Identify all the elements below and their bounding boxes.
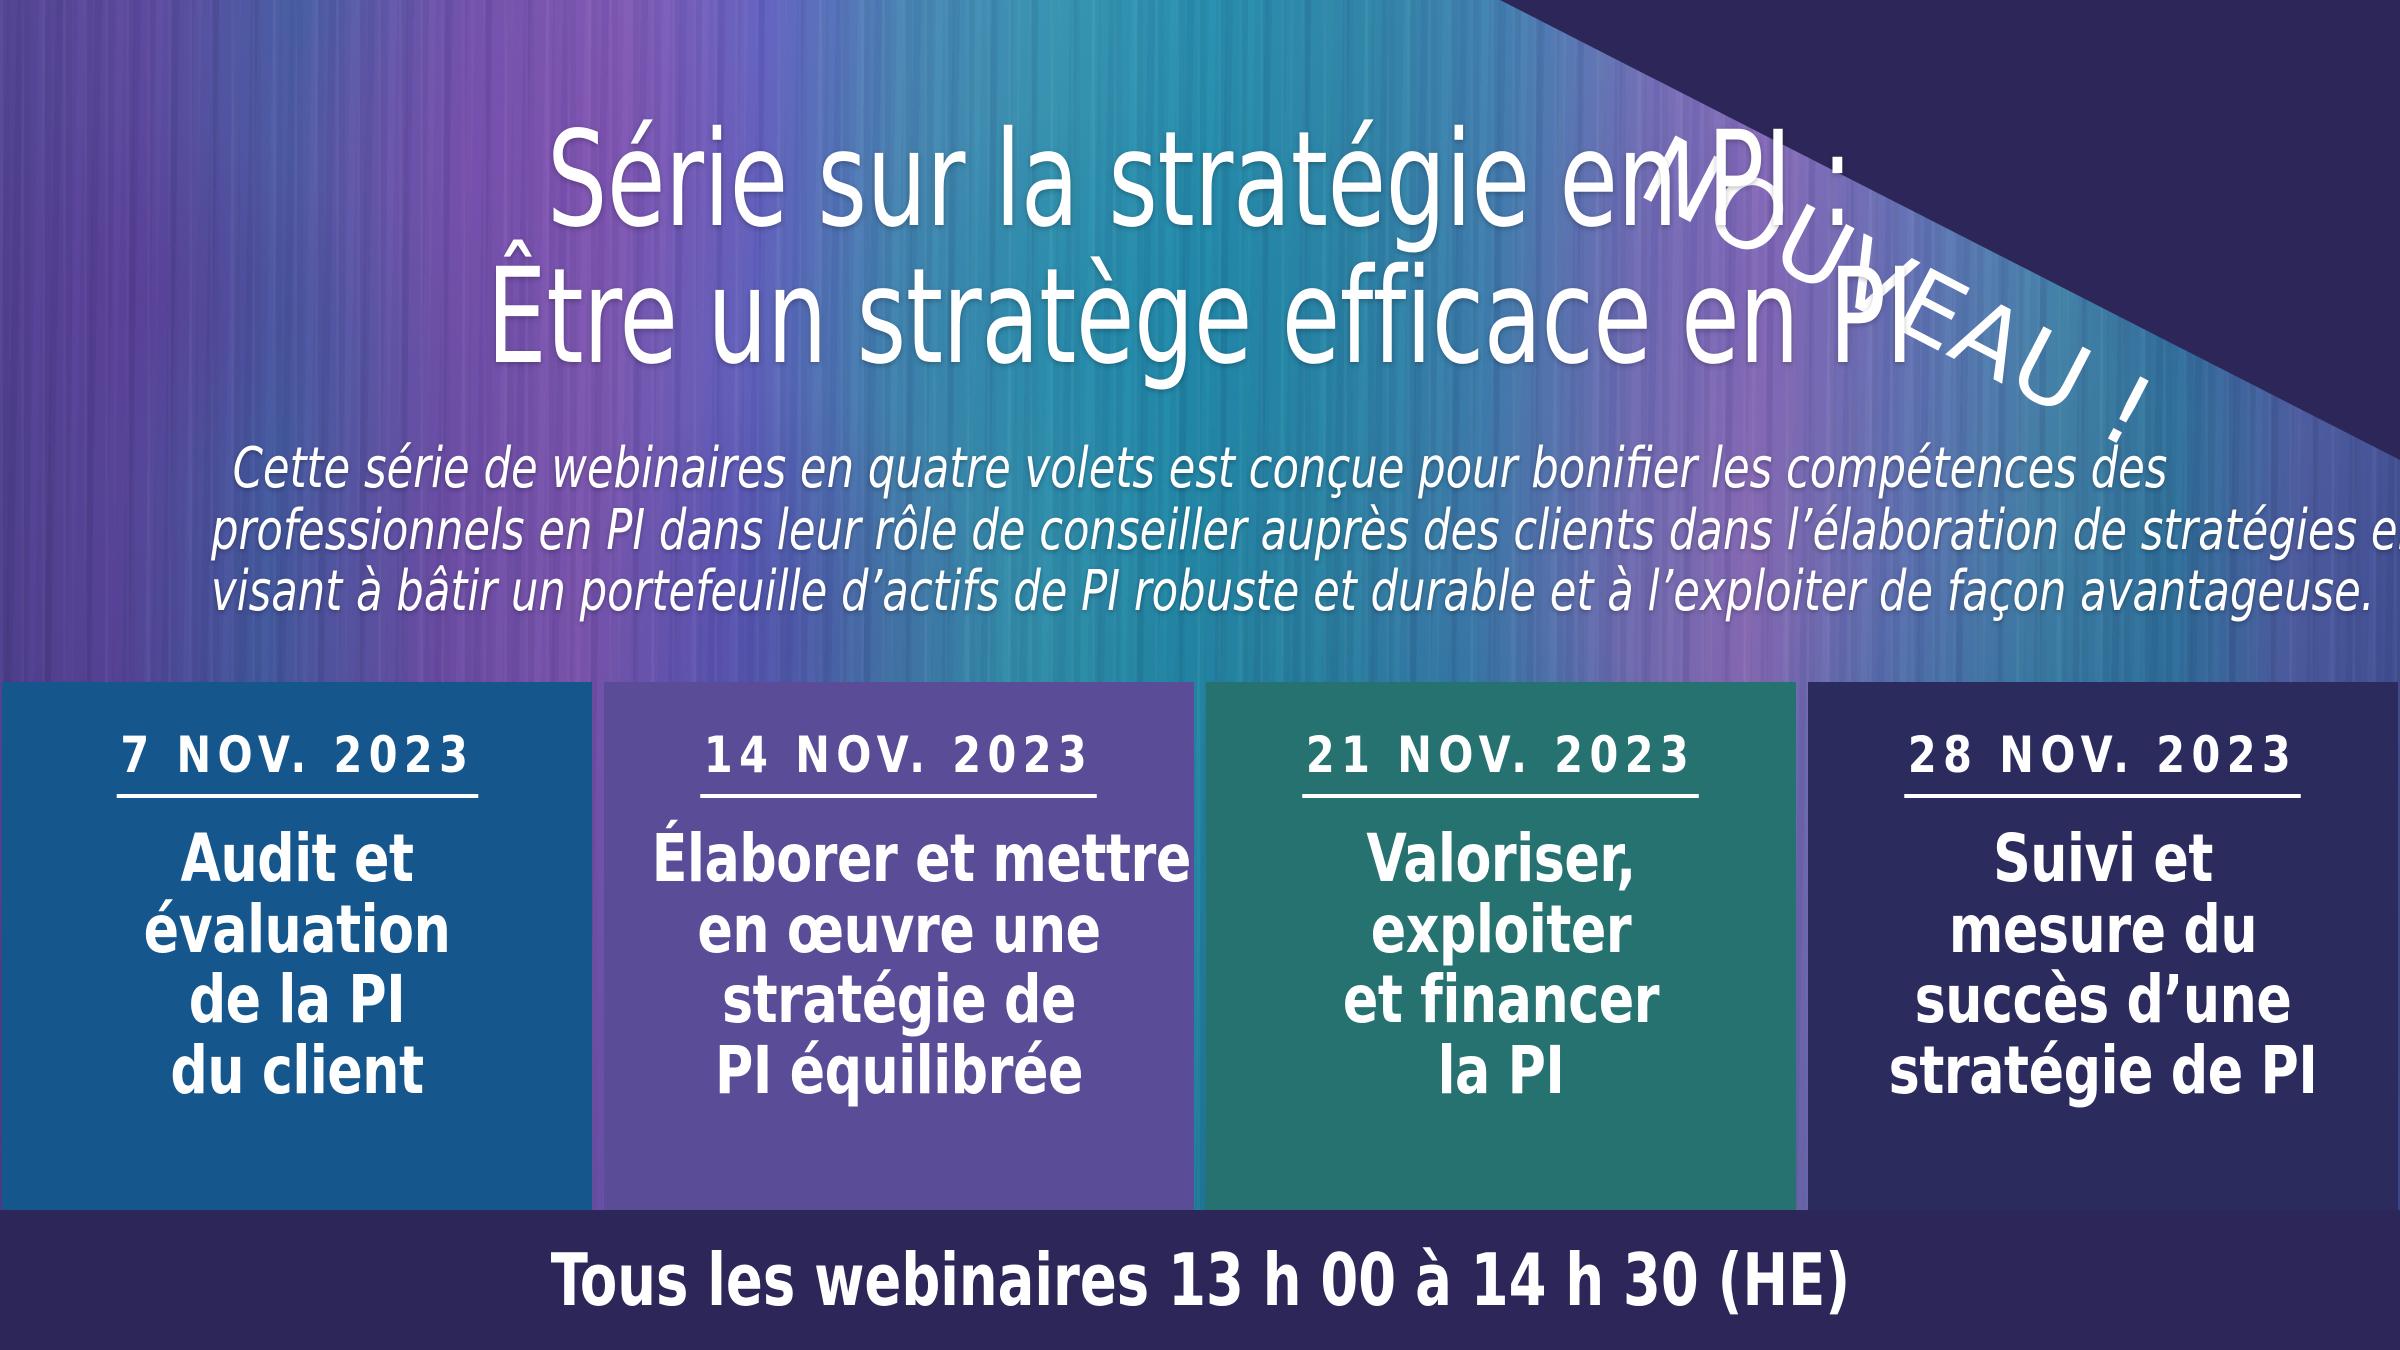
title-line-1: Série sur la stratégie en PI : <box>240 112 2160 249</box>
session-title-line: de la PI <box>50 965 545 1036</box>
banner-header: Série sur la stratégie en PI : Être un s… <box>0 0 2400 672</box>
webinar-series-banner: NOUVEAU ! Série sur la stratégie en PI :… <box>0 0 2400 1350</box>
series-description: Cette série de webinaires en quatre vole… <box>50 438 2350 623</box>
session-card[interactable]: 21 NOV. 2023 Valoriser, exploiter et fin… <box>1206 682 1796 1210</box>
session-title-line: et financer <box>1254 965 1749 1036</box>
session-title-line: succès d’une <box>1856 965 2351 1036</box>
session-date: 7 NOV. 2023 <box>116 726 477 798</box>
session-title-line: exploiter <box>1254 895 1749 966</box>
session-title-line: mesure du <box>1856 895 2351 966</box>
session-title-line: du client <box>50 1036 545 1107</box>
session-card[interactable]: 14 NOV. 2023 Élaborer et mettre en œuvre… <box>604 682 1194 1210</box>
session-card[interactable]: 7 NOV. 2023 Audit et évaluation de la PI… <box>2 682 592 1210</box>
session-title: Audit et évaluation de la PI du client <box>50 824 545 1106</box>
session-title-line: évaluation <box>50 895 545 966</box>
description-line-2: professionnels en PI dans leur rôle de c… <box>211 500 2189 562</box>
session-title-line: Élaborer et mettre <box>652 824 1147 895</box>
session-date: 14 NOV. 2023 <box>701 726 1098 798</box>
session-title-line: la PI <box>1254 1036 1749 1107</box>
description-line-3: visant à bâtir un portefeuille d’actifs … <box>211 561 2189 623</box>
page-title: Série sur la stratégie en PI : Être un s… <box>240 112 2160 387</box>
session-title: Suivi et mesure du succès d’une stratégi… <box>1856 824 2351 1106</box>
schedule-text: Tous les webinaires 13 h 00 à 14 h 30 (H… <box>550 1238 1849 1322</box>
session-card-list: 7 NOV. 2023 Audit et évaluation de la PI… <box>0 682 2400 1210</box>
session-title-line: PI équilibrée <box>652 1036 1147 1107</box>
session-title-line: Audit et <box>50 824 545 895</box>
session-title: Élaborer et mettre en œuvre une stratégi… <box>652 824 1147 1106</box>
description-line-1: Cette série de webinaires en quatre vole… <box>211 438 2189 500</box>
session-title: Valoriser, exploiter et financer la PI <box>1254 824 1749 1106</box>
session-title-line: stratégie de PI <box>1856 1036 2351 1107</box>
session-title-line: Suivi et <box>1856 824 2351 895</box>
session-title-line: en œuvre une <box>652 895 1147 966</box>
title-line-2: Être un stratège efficace en PI <box>240 249 2160 386</box>
session-date: 21 NOV. 2023 <box>1303 726 1700 798</box>
schedule-footer-bar: Tous les webinaires 13 h 00 à 14 h 30 (H… <box>0 1210 2400 1350</box>
session-title-line: stratégie de <box>652 965 1147 1036</box>
session-card[interactable]: 28 NOV. 2023 Suivi et mesure du succès d… <box>1808 682 2398 1210</box>
session-title-line: Valoriser, <box>1254 824 1749 895</box>
session-date: 28 NOV. 2023 <box>1905 726 2302 798</box>
